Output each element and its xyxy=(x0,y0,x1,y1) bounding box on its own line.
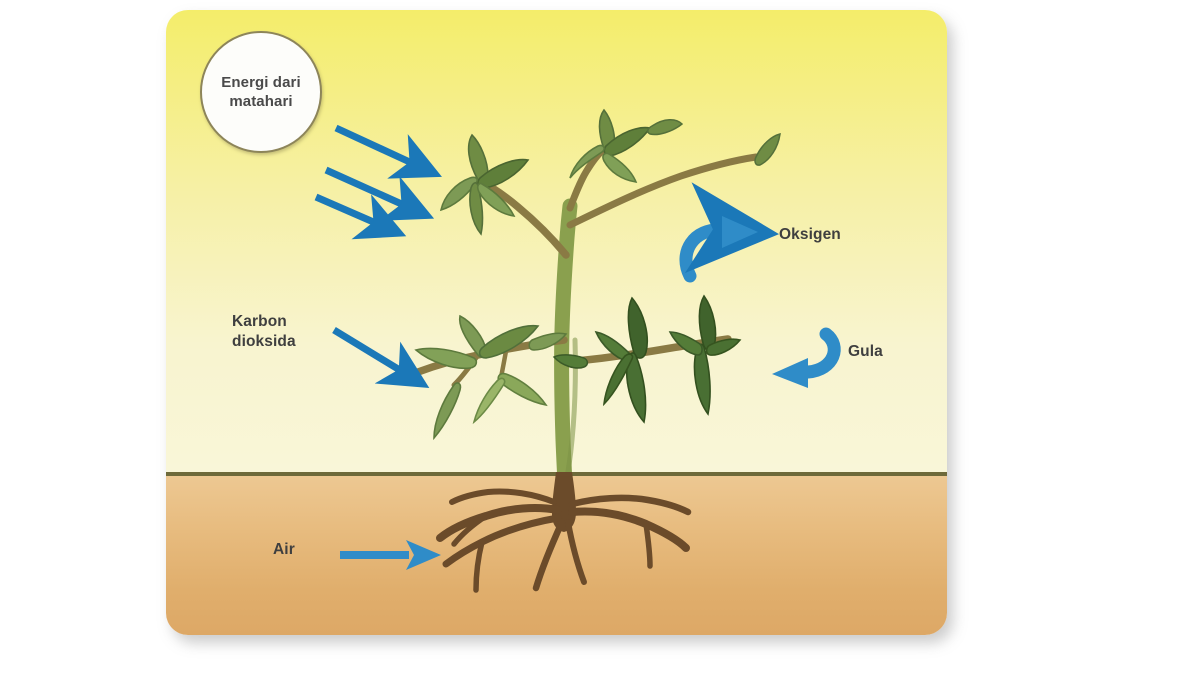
sugar-arrow-head xyxy=(772,358,808,388)
leaf-cluster-mid-right xyxy=(554,296,740,422)
leaf-cluster-upper-right xyxy=(755,134,780,165)
carbon-dioxide-arrow xyxy=(334,330,403,372)
water-arrow-head xyxy=(406,540,441,570)
sunlight-ray-2 xyxy=(326,170,406,206)
sunlight-ray-3 xyxy=(316,197,378,224)
root-system xyxy=(440,472,688,590)
oxygen-arrow xyxy=(686,230,722,276)
sunlight-ray-1 xyxy=(336,128,414,164)
photosynthesis-panel: Energi dari matahari Karbon dioksida Oks… xyxy=(166,10,947,635)
leaf-cluster-top-left xyxy=(441,135,528,234)
diagram-canvas: Energi dari matahari Karbon dioksida Oks… xyxy=(0,0,1200,675)
sun-energy-bubble: Energi dari matahari xyxy=(200,31,322,153)
water-label: Air xyxy=(273,540,295,560)
oxygen-arrow-head xyxy=(722,216,758,248)
oxygen-label: Oksigen xyxy=(779,225,841,245)
sugar-arrow xyxy=(808,334,834,372)
sunlight-arrows xyxy=(316,128,414,224)
leaf-cluster-mid-left xyxy=(416,316,566,438)
sugar-label: Gula xyxy=(848,342,883,362)
sun-energy-label: Energi dari matahari xyxy=(202,73,320,111)
carbon-dioxide-label: Karbon dioksida xyxy=(232,312,296,352)
